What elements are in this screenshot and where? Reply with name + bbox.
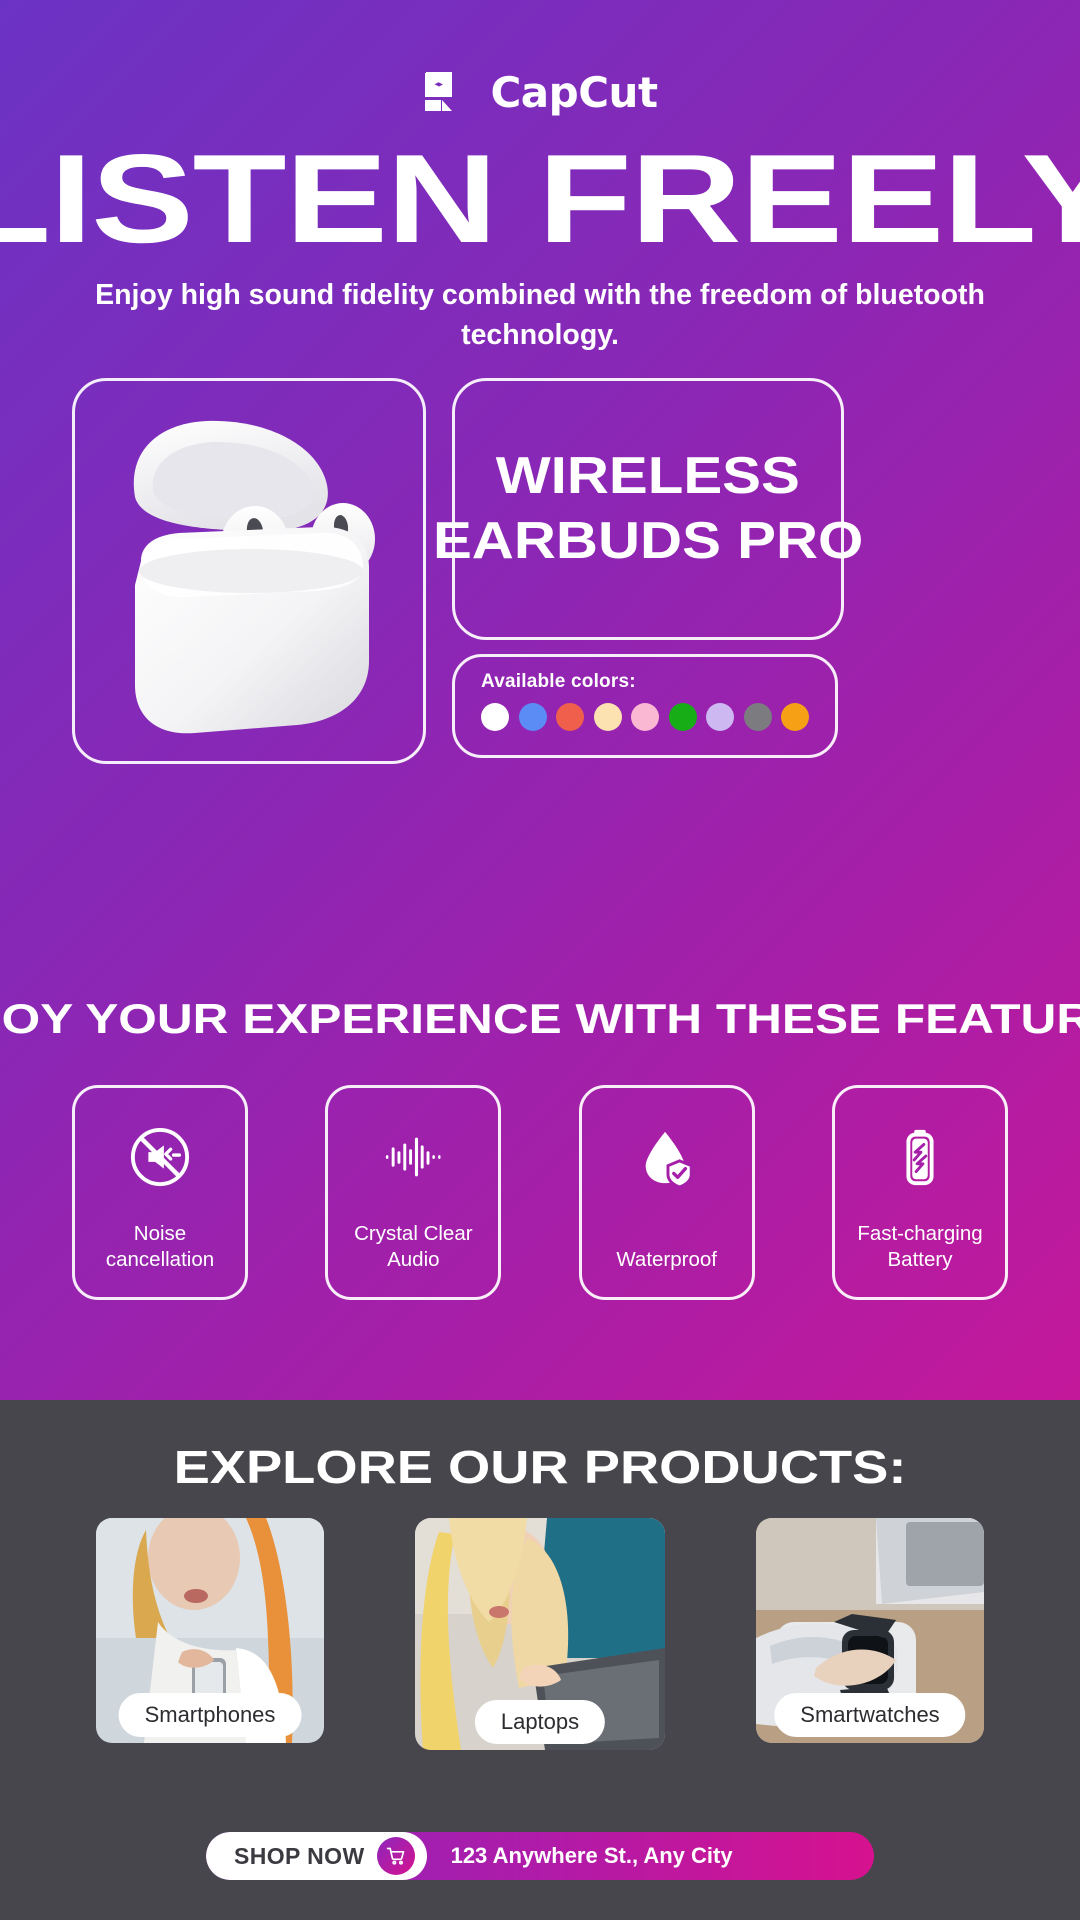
address-label: 123 Anywhere St., Any City [451,1843,733,1869]
color-swatch-list [481,703,835,731]
hero-section: CapCut LISTEN FREELY Enjoy high sound fi… [0,0,1080,1400]
brand-name: CapCut [490,68,657,117]
hero-subtitle: Enjoy high sound fidelity combined with … [70,275,1010,356]
feature-label: Waterproof [610,1247,723,1273]
product-title-card: WIRELESS EARBUDS PRO [452,378,844,640]
explore-heading: EXPLORE OUR PRODUCTS: [0,1440,1080,1494]
color-swatch-blue[interactable] [519,703,547,731]
product-card-smartwatches[interactable]: Smartwatches [756,1518,984,1743]
available-colors-label: Available colors: [481,671,835,693]
product-card-smartphones[interactable]: Smartphones [96,1518,324,1743]
shop-now-button[interactable]: SHOP NOW [206,1832,427,1880]
feature-label: Noise cancellation [75,1221,245,1273]
battery-charging-icon [889,1126,951,1188]
feature-card-waterproof[interactable]: Waterproof [579,1085,755,1300]
color-swatch-orange[interactable] [781,703,809,731]
features-list: Noise cancellation [72,1085,1008,1300]
shop-now-bar[interactable]: SHOP NOW 123 Anywhere St., Any City [206,1832,874,1880]
color-swatch-lavender[interactable] [706,703,734,731]
shop-now-label: SHOP NOW [234,1843,365,1870]
promo-poster: CapCut LISTEN FREELY Enjoy high sound fi… [0,0,1080,1920]
product-category-label: Smartwatches [774,1693,965,1737]
available-colors-card: Available colors: [452,654,838,758]
color-swatch-green[interactable] [669,703,697,731]
product-card-laptops[interactable]: Laptops [415,1518,665,1750]
product-category-label: Laptops [475,1700,605,1744]
color-swatch-white[interactable] [481,703,509,731]
product-title-line-1: WIRELESS [496,446,800,507]
shopping-cart-icon[interactable] [377,1837,415,1875]
audio-waveform-icon [382,1126,444,1188]
product-category-list: Smartphones Laptops [96,1518,984,1743]
color-swatch-pink[interactable] [631,703,659,731]
product-title-line-2: EARBUDS PRO [433,511,863,572]
color-swatch-cream[interactable] [594,703,622,731]
cart-glyph [386,1846,406,1866]
brand-header: CapCut [0,60,1080,124]
feature-card-fast-charging-battery[interactable]: Fast-charging Battery [832,1085,1008,1300]
feature-card-crystal-clear-audio[interactable]: Crystal Clear Audio [325,1085,501,1300]
water-drop-shield-icon [636,1126,698,1188]
product-image-card [72,378,426,764]
earbuds-product-image [83,399,419,747]
mute-speaker-icon [129,1126,191,1188]
page-title: LISTEN FREELY [0,136,1080,262]
feature-label: Fast-charging Battery [835,1221,1005,1273]
feature-card-noise-cancellation[interactable]: Noise cancellation [72,1085,248,1300]
color-swatch-gray[interactable] [744,703,772,731]
color-swatch-coral-red[interactable] [556,703,584,731]
feature-label: Crystal Clear Audio [328,1221,498,1273]
features-heading: ENJOY YOUR EXPERIENCE WITH THESE FEATURE… [0,995,1080,1043]
capcut-logo-icon [422,70,474,114]
product-category-label: Smartphones [119,1693,302,1737]
